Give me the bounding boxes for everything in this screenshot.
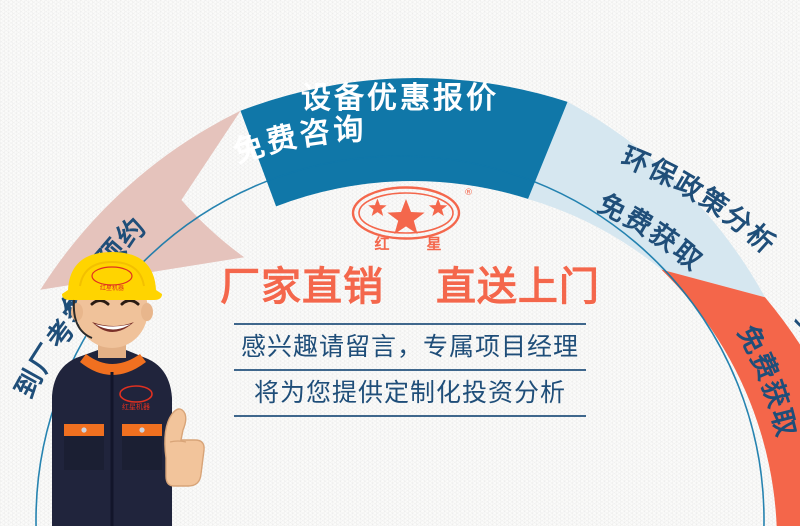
worker-ear-right: [141, 303, 153, 321]
worker-photo: 红星机器 红星机器: [0, 246, 214, 526]
chest-badge-text: 红星机器: [122, 402, 150, 411]
segment-label-line2: 设备优惠报价: [301, 81, 499, 116]
uniform-pocket-right-body: [122, 436, 162, 470]
worker-ear-left: [71, 303, 83, 321]
hard-hat: [62, 252, 162, 300]
uniform-pocket-left-body: [64, 436, 104, 470]
wheel-segment-free-policy[interactable]: 免费获取 环保政策分析: [528, 102, 782, 297]
pocket-button-left: [81, 427, 86, 432]
pocket-button-right: [139, 427, 144, 432]
wheel-segment-free-consult[interactable]: 免费咨询 设备优惠报价: [229, 78, 567, 206]
hard-hat-logo-text: 红星机器: [100, 284, 124, 292]
promo-banner: 免费预约 到厂考察机器 免费咨询 设备优惠报价 免费获取 环保政策分析: [0, 0, 800, 526]
thumbs-up-icon: [165, 409, 204, 486]
